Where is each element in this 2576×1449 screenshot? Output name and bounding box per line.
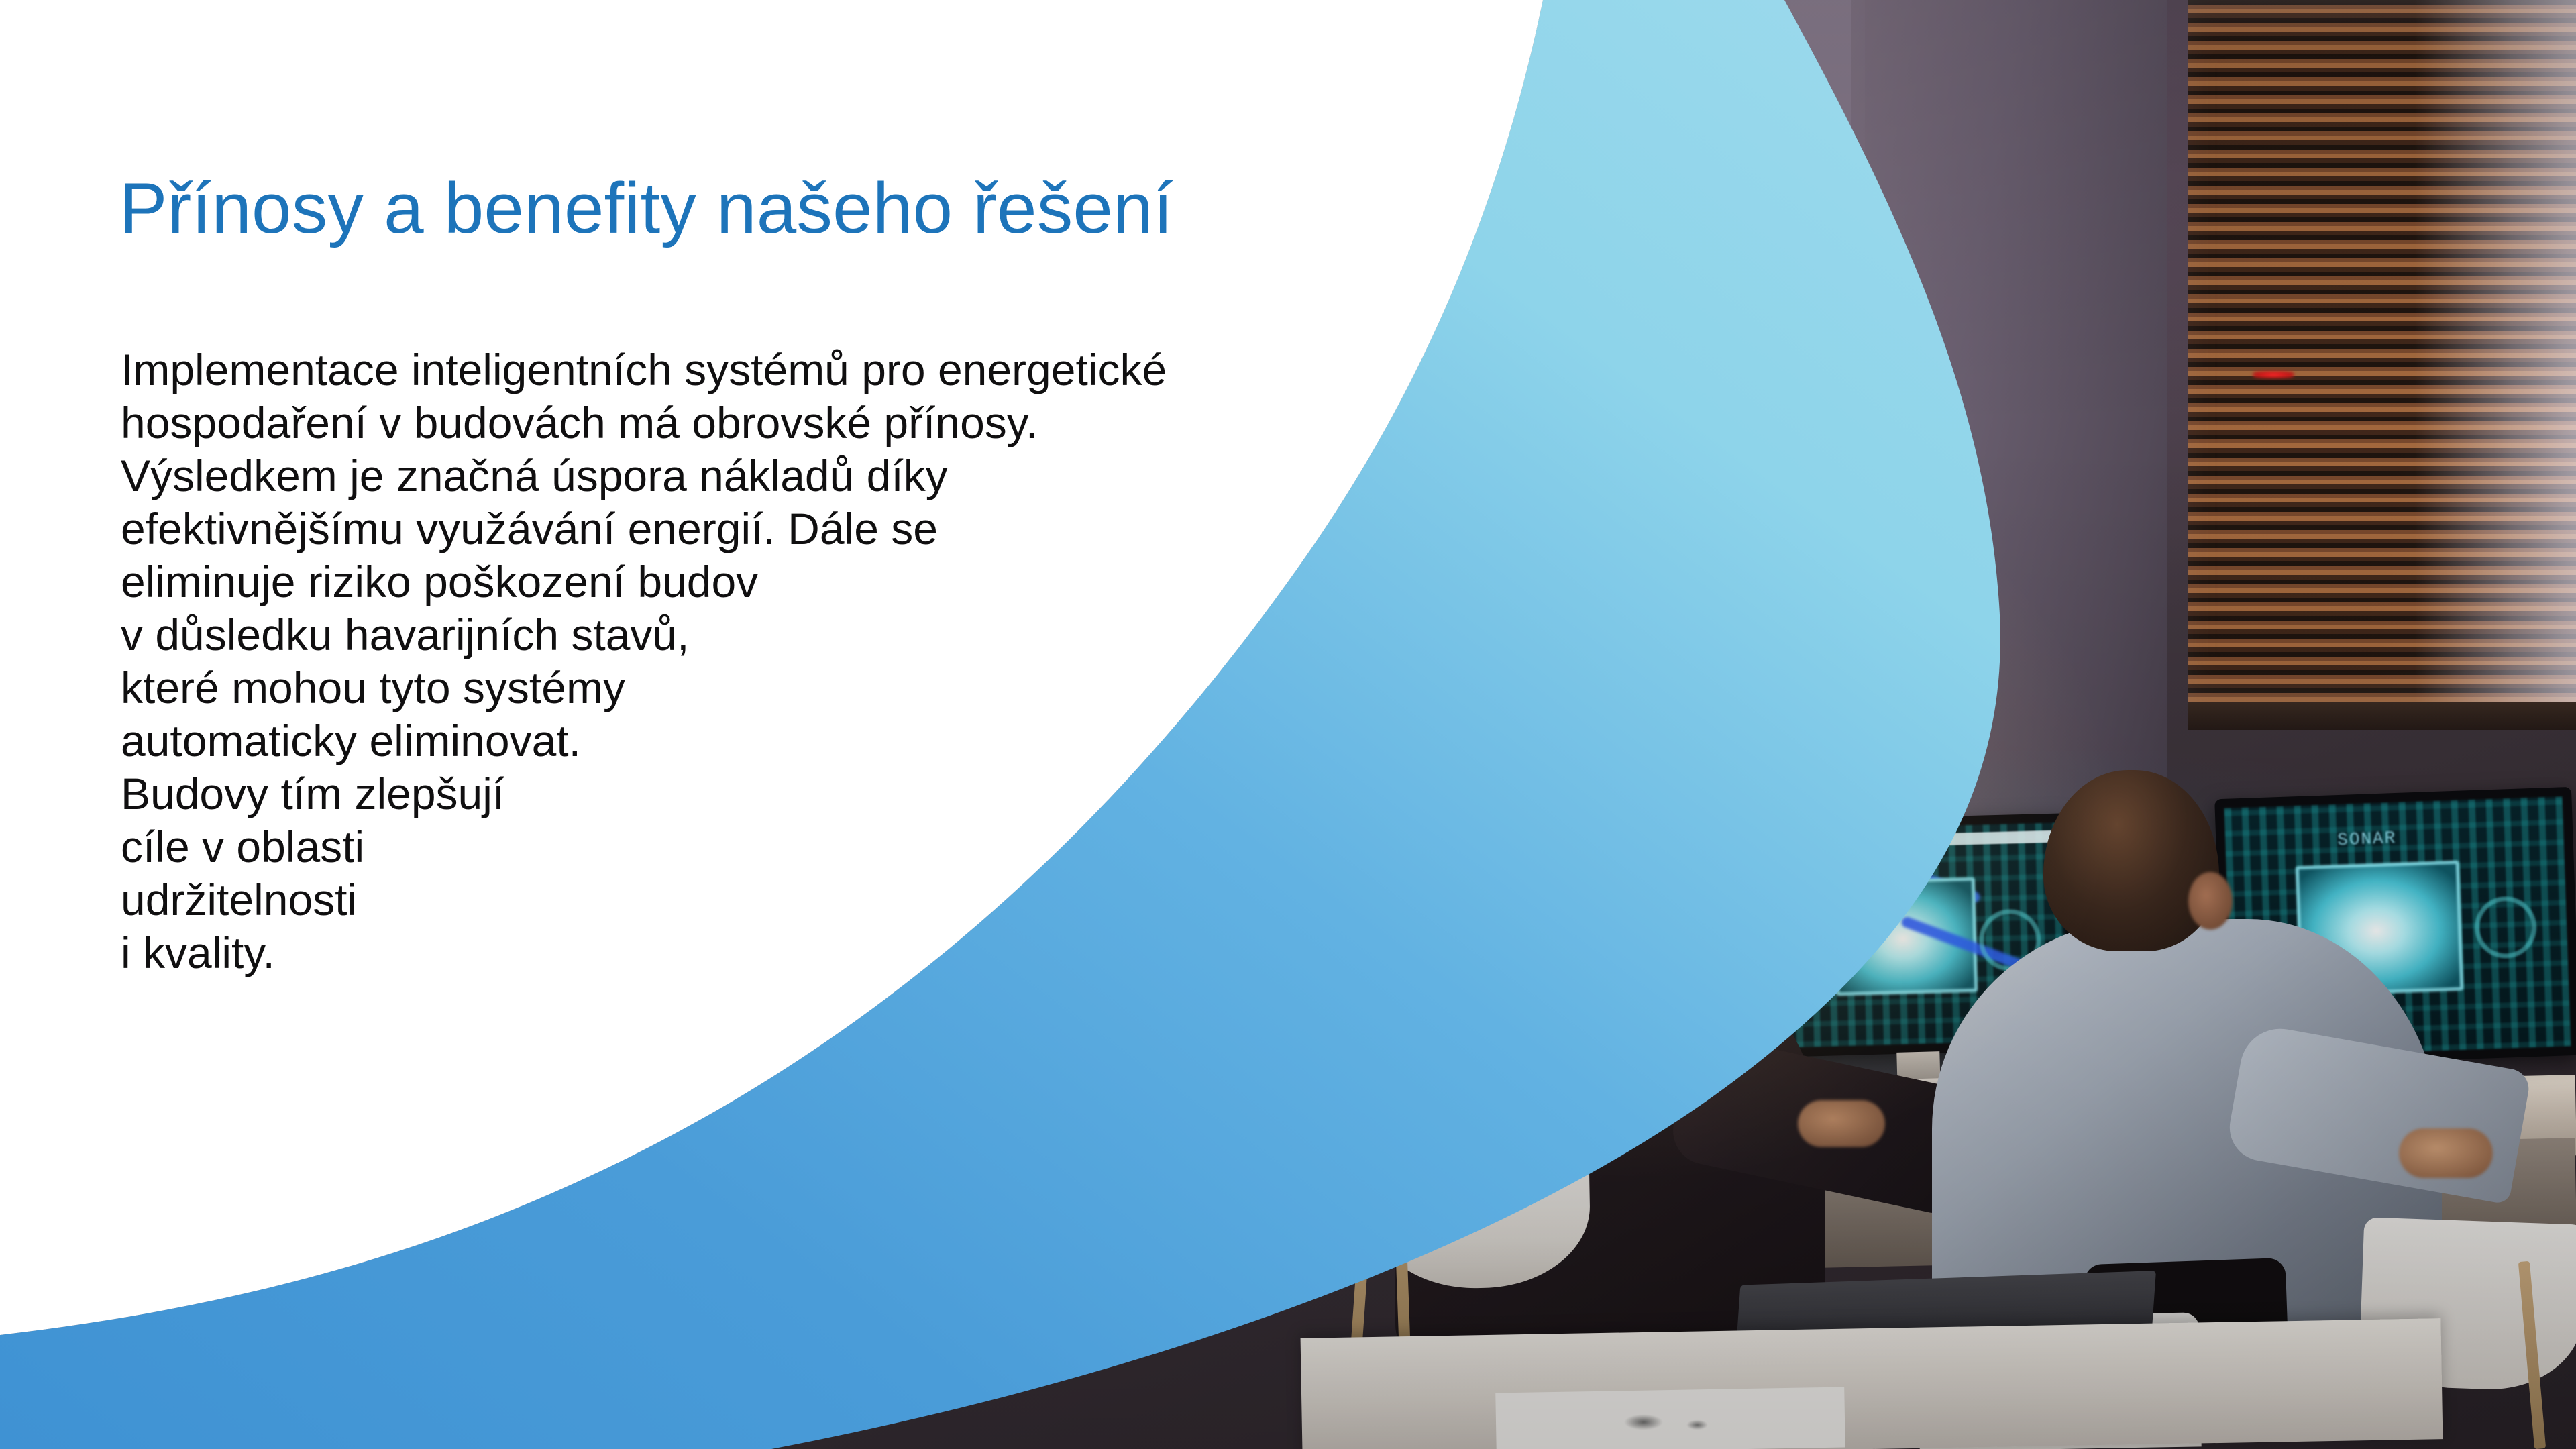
body-line: i kvality.	[121, 926, 1167, 979]
body-line: Budovy tím zlepšují	[121, 767, 1167, 820]
page-title: Přínosy a benefity našeho řešení	[119, 166, 1173, 250]
body-line: hospodaření v budovách má obrovské příno…	[121, 396, 1167, 449]
body-paragraph: Implementace inteligentních systémů pro …	[121, 343, 1167, 979]
body-line: eliminuje riziko poškození budov	[121, 555, 1167, 608]
body-line: které mohou tyto systémy	[121, 661, 1167, 714]
body-line: v důsledku havarijních stavů,	[121, 608, 1167, 661]
body-line: automaticky eliminovat.	[121, 714, 1167, 767]
body-line: cíle v oblasti	[121, 820, 1167, 873]
slide-canvas: IMAGE SONAR	[0, 0, 2576, 1449]
body-line: udržitelnosti	[121, 873, 1167, 926]
body-line: Implementace inteligentních systémů pro …	[121, 343, 1167, 396]
body-line: Výsledkem je značná úspora nákladů díky	[121, 449, 1167, 502]
body-line: efektivnějšímu využávání energií. Dále s…	[121, 502, 1167, 555]
